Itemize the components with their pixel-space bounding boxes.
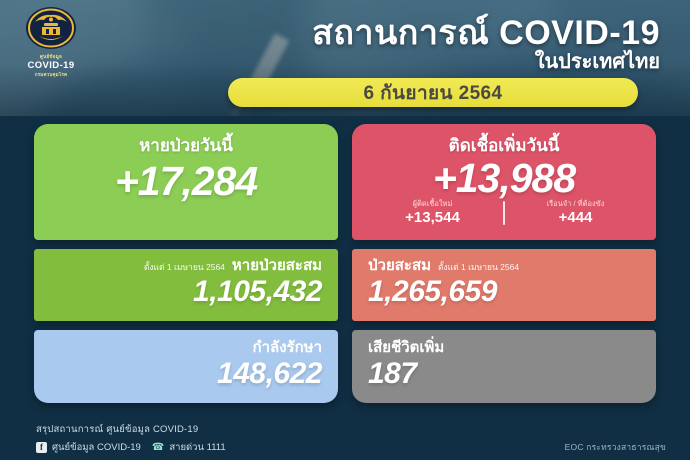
footer-left-block: สรุปสถานการณ์ ศูนย์ข้อมูล COVID-19 f ศูน… xyxy=(36,422,226,455)
page-subtitle: ในประเทศไทย xyxy=(312,51,660,73)
recovered-total-heading: ตั้งแต่ 1 เมษายน 2564 หายป่วยสะสม xyxy=(50,258,322,275)
cases-total-heading: ป่วยสะสม ตั้งแต่ 1 เมษายน 2564 xyxy=(368,258,640,275)
garuda-emblem-icon xyxy=(25,6,77,52)
logo-line-3: กรมควบคุมโรค xyxy=(14,71,88,78)
date-text: 6 กันยายน 2564 xyxy=(363,78,502,108)
recovered-total-value: 1,105,432 xyxy=(50,275,322,309)
agency-logo: ศูนย์ข้อมูล COVID-19 กรมควบคุมโรค xyxy=(14,6,88,78)
stats-column-right: ติดเชื้อเพิ่มวันนี้ +13,988 ผู้ติดเชื้อใ… xyxy=(352,124,656,416)
footer-source-text: สรุปสถานการณ์ ศูนย์ข้อมูล COVID-19 xyxy=(36,422,226,437)
poster-footer: สรุปสถานการณ์ ศูนย์ข้อมูล COVID-19 f ศูน… xyxy=(0,416,690,460)
logo-line-2: COVID-19 xyxy=(14,60,88,71)
card-deaths-today: เสียชีวิตเพิ่ม 187 xyxy=(352,330,656,403)
card-active-treatment: กำลังรักษา 148,622 xyxy=(34,330,338,403)
hotline-text: สายด่วน 1111 xyxy=(169,440,225,455)
breakdown-item-prison: เรือนจำ / ที่ต้องขัง +444 xyxy=(511,199,640,226)
new-cases-today-value: +13,988 xyxy=(368,155,640,201)
cases-total-value: 1,265,659 xyxy=(368,275,640,309)
facebook-icon: f xyxy=(36,442,47,453)
breakdown-item-new-infections: ผู้ติดเชื้อใหม่ +13,544 xyxy=(368,199,497,226)
card-new-cases-today: ติดเชื้อเพิ่มวันนี้ +13,988 ผู้ติดเชื้อใ… xyxy=(352,124,656,240)
facebook-page-name: ศูนย์ข้อมูล COVID-19 xyxy=(52,440,141,455)
prison-cases-label: เรือนจำ / ที่ต้องขัง xyxy=(511,199,640,209)
card-recovered-total: ตั้งแต่ 1 เมษายน 2564 หายป่วยสะสม 1,105,… xyxy=(34,249,338,321)
stats-column-left: หายป่วยวันนี้ +17,284 ตั้งแต่ 1 เมษายน 2… xyxy=(34,124,338,416)
active-treatment-value: 148,622 xyxy=(50,357,322,391)
new-cases-today-label: ติดเชื้อเพิ่มวันนี้ xyxy=(368,136,640,156)
new-infections-value: +13,544 xyxy=(368,209,497,226)
stats-grid: หายป่วยวันนี้ +17,284 ตั้งแต่ 1 เมษายน 2… xyxy=(0,116,690,416)
breakdown-divider xyxy=(503,201,505,225)
cases-total-label: ป่วยสะสม xyxy=(368,258,431,274)
covid-situation-poster: ศูนย์ข้อมูล COVID-19 กรมควบคุมโรค สถานกา… xyxy=(0,0,690,460)
date-banner: 6 กันยายน 2564 xyxy=(228,78,638,107)
new-cases-breakdown: ผู้ติดเชื้อใหม่ +13,544 เรือนจำ / ที่ต้อ… xyxy=(368,199,640,226)
card-cases-total: ป่วยสะสม ตั้งแต่ 1 เมษายน 2564 1,265,659 xyxy=(352,249,656,321)
prison-cases-value: +444 xyxy=(511,209,640,226)
cases-total-since: ตั้งแต่ 1 เมษายน 2564 xyxy=(438,259,519,275)
footer-contact-row: f ศูนย์ข้อมูล COVID-19 ☎ สายด่วน 1111 xyxy=(36,440,226,455)
recovered-total-since: ตั้งแต่ 1 เมษายน 2564 xyxy=(144,259,225,275)
recovered-total-label: หายป่วยสะสม xyxy=(232,258,322,274)
logo-line-1: ศูนย์ข้อมูล xyxy=(14,53,88,60)
phone-icon: ☎ xyxy=(152,442,164,453)
poster-title-block: สถานการณ์ COVID-19 ในประเทศไทย xyxy=(312,14,660,73)
active-treatment-label: กำลังรักษา xyxy=(50,339,322,357)
deaths-today-label: เสียชีวิตเพิ่ม xyxy=(368,339,640,357)
page-title: สถานการณ์ COVID-19 xyxy=(312,14,660,52)
new-infections-label: ผู้ติดเชื้อใหม่ xyxy=(368,199,497,209)
deaths-today-value: 187 xyxy=(368,357,640,391)
recovered-today-label: หายป่วยวันนี้ xyxy=(50,136,322,156)
footer-issuer: EOC กระทรวงสาธารณสุข xyxy=(565,440,666,460)
recovered-today-value: +17,284 xyxy=(50,158,322,204)
card-recovered-today: หายป่วยวันนี้ +17,284 xyxy=(34,124,338,240)
